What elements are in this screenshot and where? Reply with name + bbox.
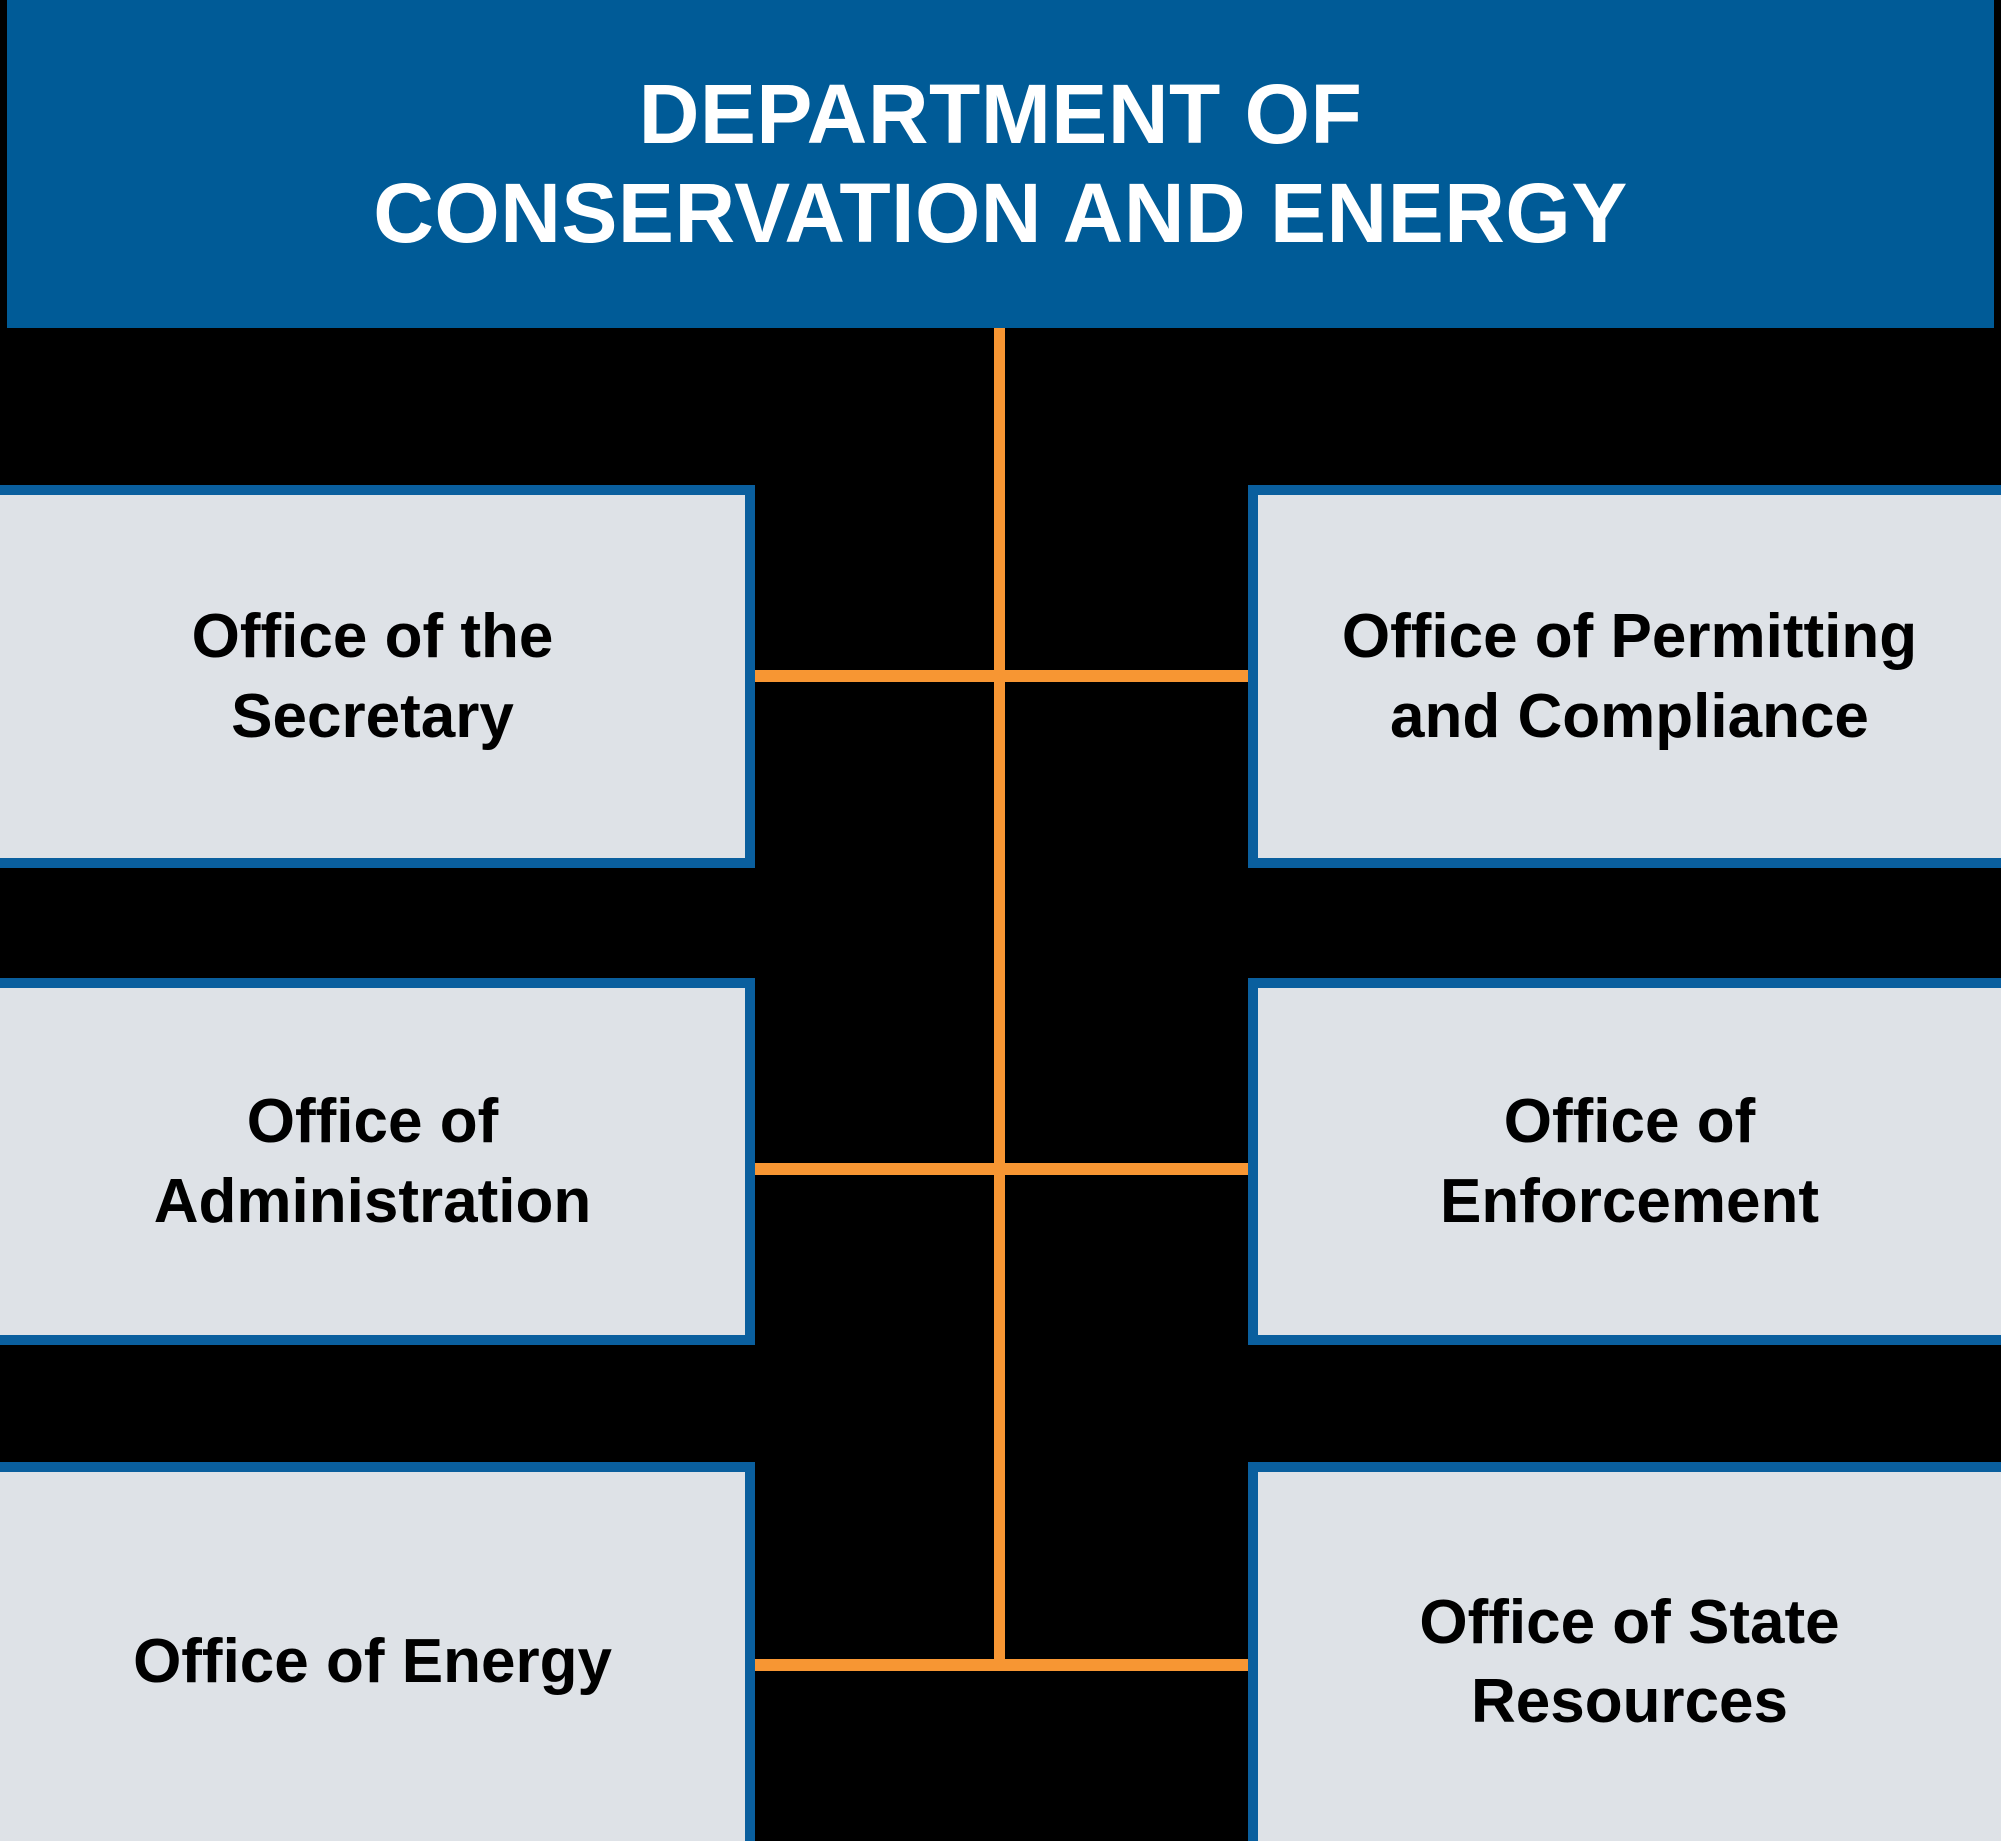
unit-box-office-of-permitting-and-compliance[interactable]: Office of Permitting and Compliance xyxy=(1248,485,2001,868)
connector-vertical-spine xyxy=(994,328,1005,1671)
unit-box-office-of-the-secretary[interactable]: Office of the Secretary xyxy=(0,485,755,868)
unit-label: Office of Administration xyxy=(154,1082,591,1241)
connector-horizontal-row-2 xyxy=(755,1163,1248,1175)
department-header-banner: DEPARTMENT OF CONSERVATION AND ENERGY xyxy=(7,0,1994,328)
unit-box-office-of-enforcement[interactable]: Office of Enforcement xyxy=(1248,978,2001,1345)
connector-horizontal-row-3 xyxy=(755,1659,1248,1671)
unit-label: Office of State Resources xyxy=(1419,1583,1839,1742)
unit-label: Office of Enforcement xyxy=(1440,1082,1819,1241)
page-title: DEPARTMENT OF CONSERVATION AND ENERGY xyxy=(373,65,1628,263)
unit-label: Office of Permitting and Compliance xyxy=(1342,597,1917,756)
unit-box-office-of-energy[interactable]: Office of Energy xyxy=(0,1462,755,1841)
unit-box-office-of-administration[interactable]: Office of Administration xyxy=(0,978,755,1345)
connector-horizontal-row-1 xyxy=(755,670,1248,682)
unit-box-office-of-state-resources[interactable]: Office of State Resources xyxy=(1248,1462,2001,1841)
org-chart-canvas: DEPARTMENT OF CONSERVATION AND ENERGY Of… xyxy=(0,0,2001,1841)
unit-label: Office of Energy xyxy=(133,1622,612,1701)
unit-label: Office of the Secretary xyxy=(192,597,554,756)
